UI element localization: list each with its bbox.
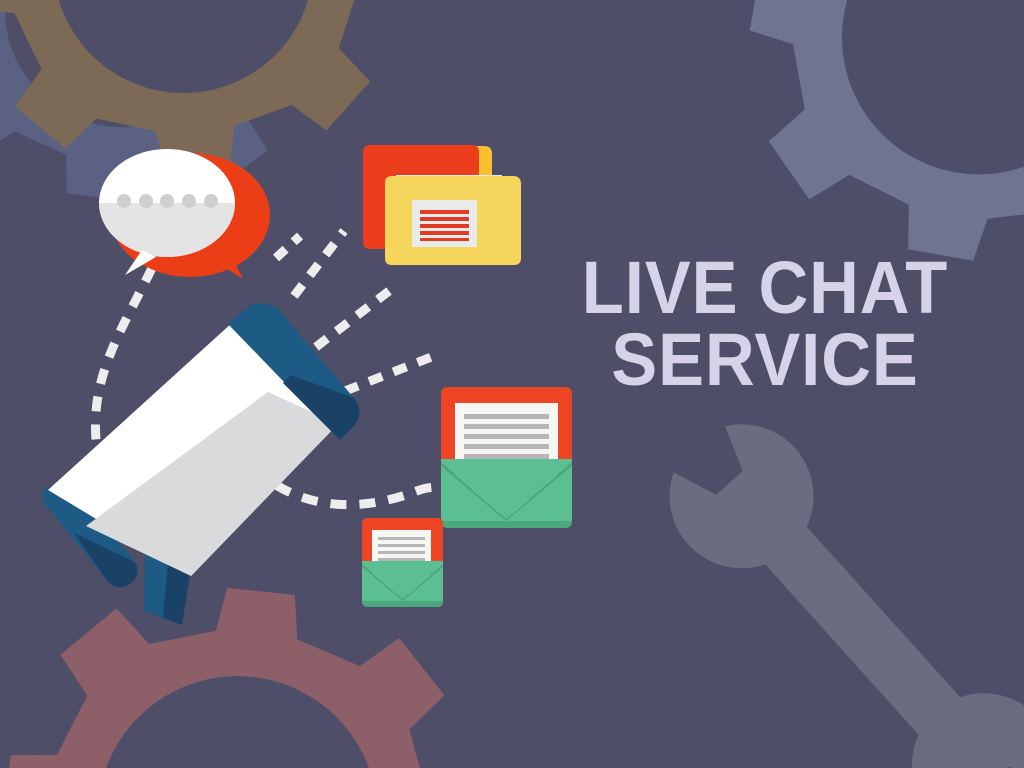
page-title: LIVE CHAT SERVICE — [540, 252, 990, 396]
page-title-line-2: SERVICE — [556, 324, 975, 396]
live-chat-service-banner: LIVE CHAT SERVICE — [0, 0, 1024, 768]
headline-layer: LIVE CHAT SERVICE — [0, 0, 1024, 768]
page-title-line-1: LIVE CHAT — [556, 252, 975, 324]
